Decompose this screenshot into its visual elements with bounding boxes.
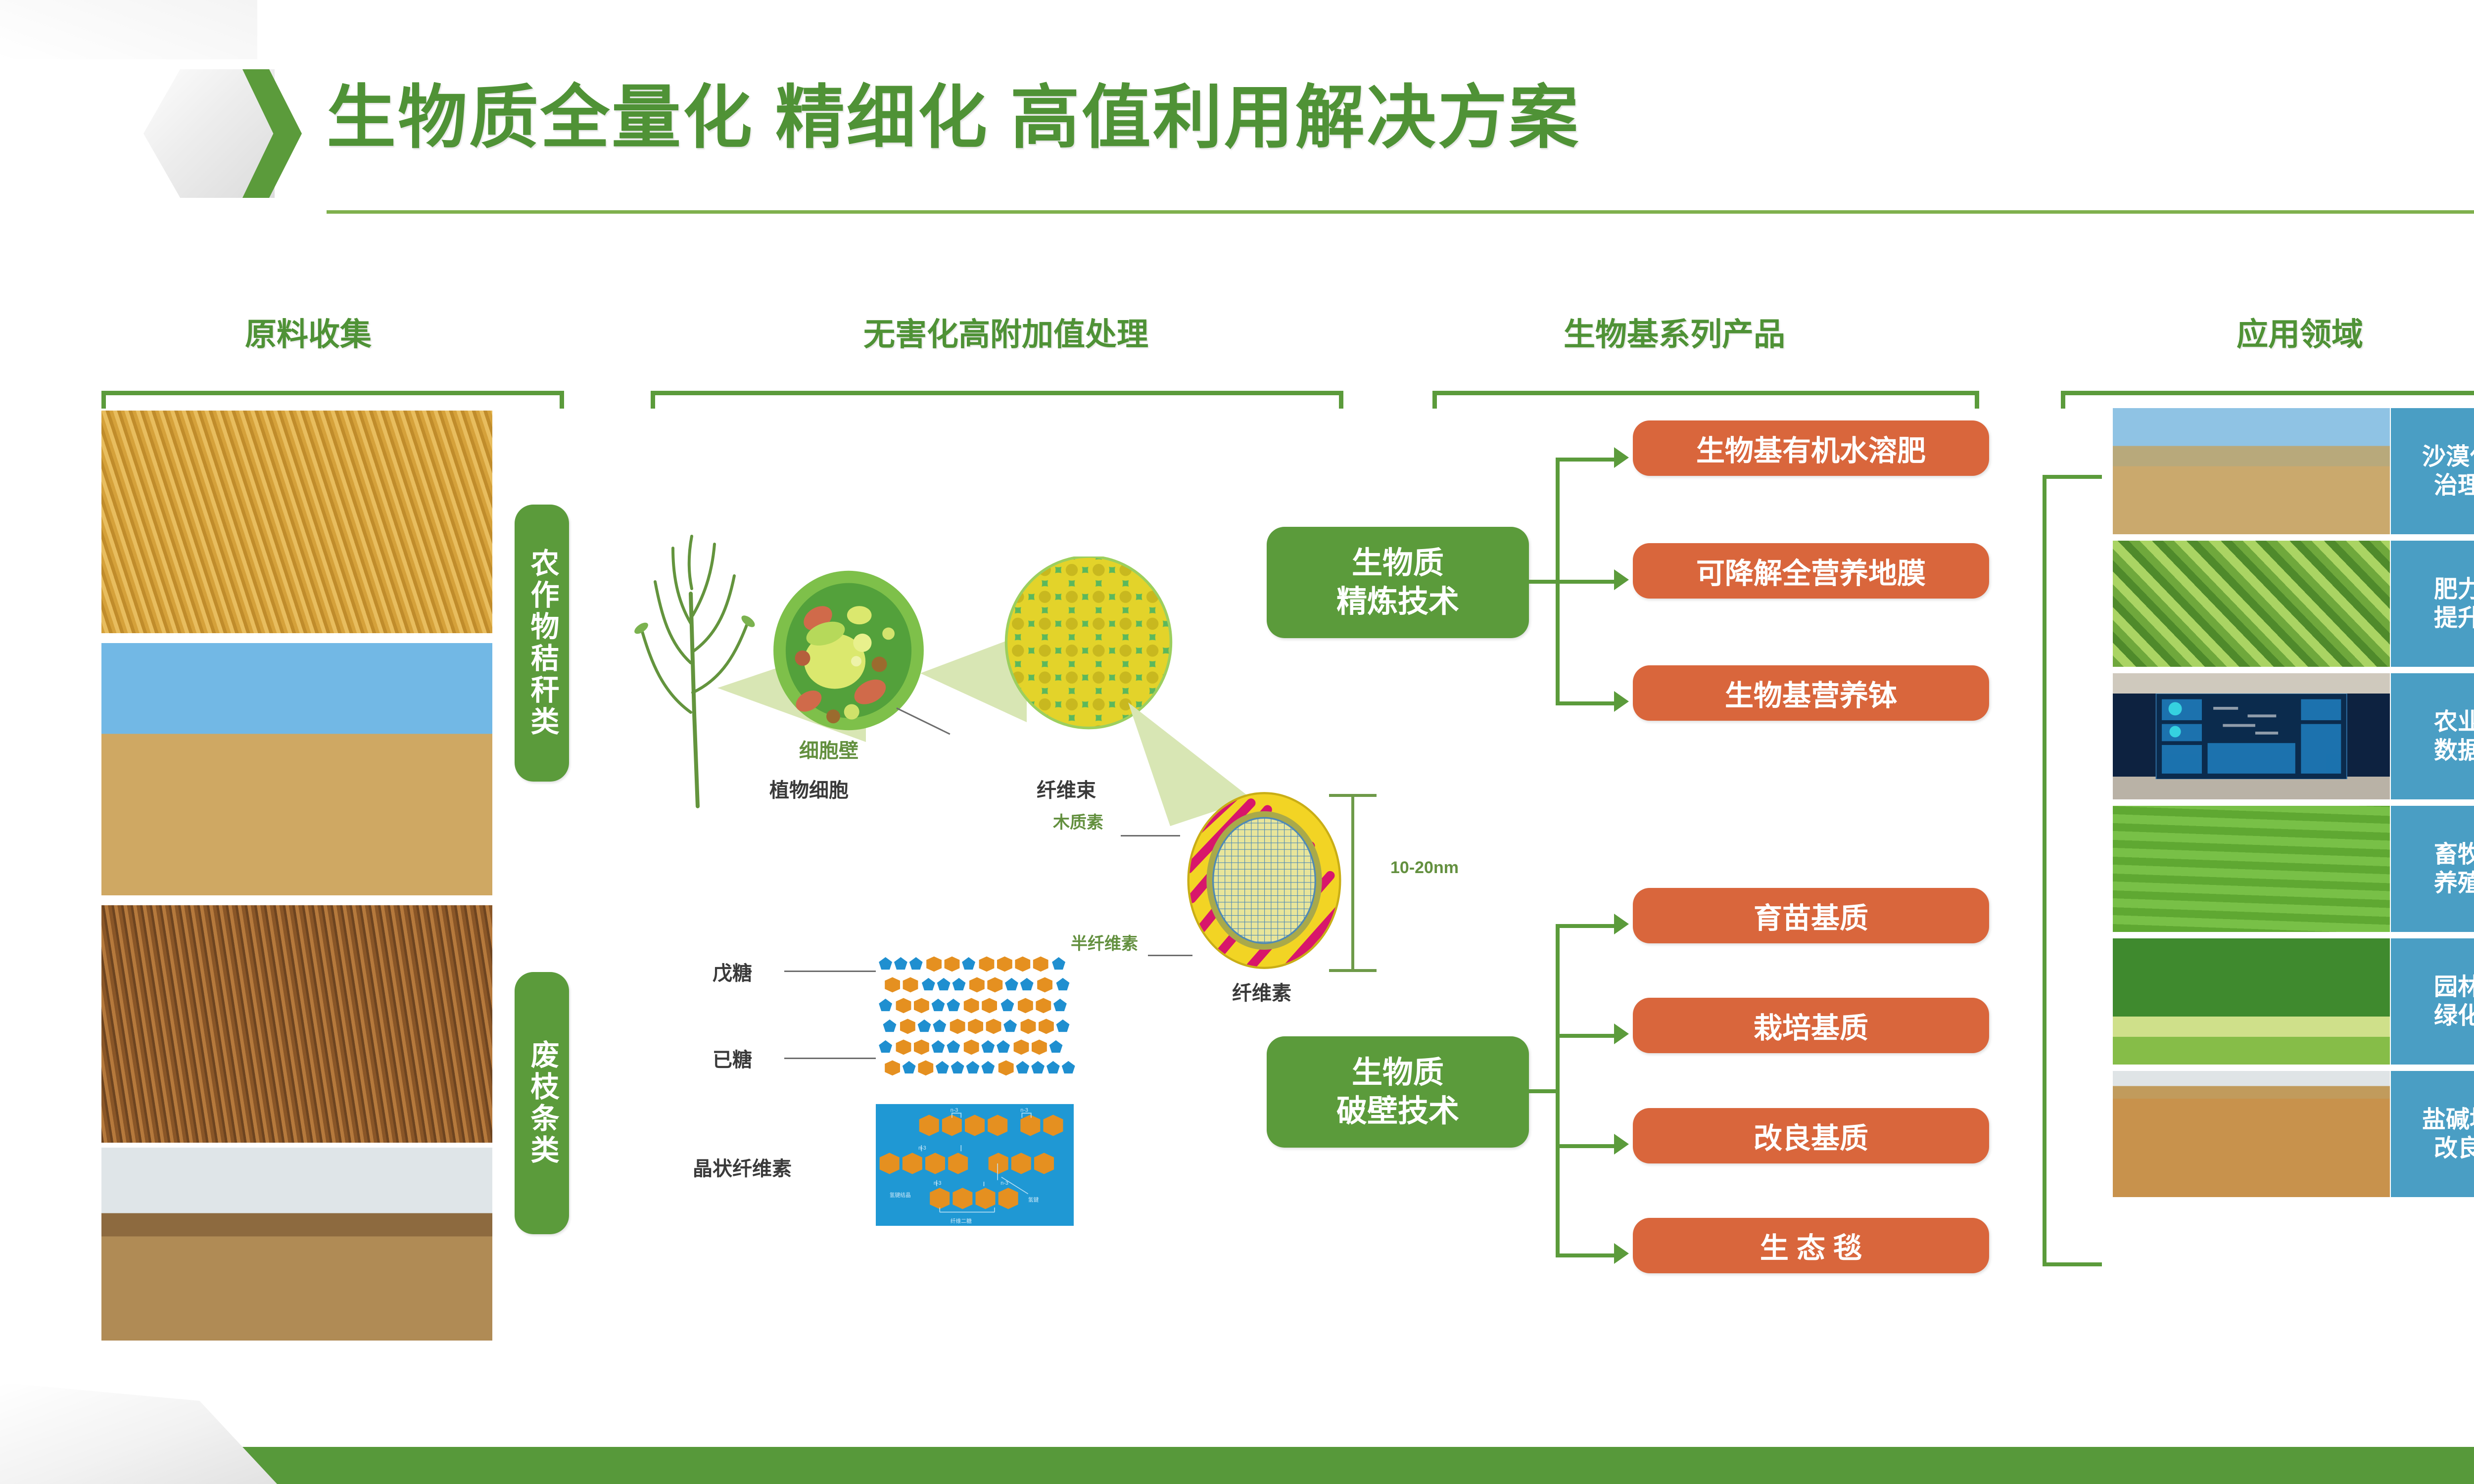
bracket-applications — [2061, 391, 2474, 409]
svg-text:纤维二糖: 纤维二糖 — [951, 1218, 972, 1224]
applications-bracket-spine — [2043, 475, 2046, 1266]
feedstock-photo-straw-bale — [101, 643, 492, 895]
product-label-1: 生物基有机水溶肥 — [1696, 427, 1926, 469]
technology-label-refining: 生物质 精炼技术 — [1336, 544, 1459, 621]
header-corner-wedge — [0, 0, 257, 59]
applications-bracket-top — [2043, 475, 2102, 479]
product-label-4: 育苗基质 — [1754, 895, 1868, 936]
technology-pill-refining[interactable]: 生物质 精炼技术 — [1267, 527, 1529, 638]
page-header: 生物质全量化 精细化 高值利用解决方案 — [0, 0, 2474, 232]
application-photo-desert — [2113, 408, 2390, 534]
application-photo-landscape — [2113, 938, 2390, 1065]
hexose-leader-line — [784, 1058, 876, 1059]
column-header-process: 无害化高附加值处理 — [863, 309, 1148, 355]
label-lignin: 木质素 — [1053, 809, 1103, 833]
fiber-bundle-icon — [1004, 556, 1173, 730]
sugar-chain-icon — [876, 952, 1084, 1078]
label-crystalline-cellulose: 晶状纤维素 — [693, 1153, 792, 1181]
product-pill-7[interactable]: 生 态 毯 — [1633, 1218, 1989, 1273]
product-label-2: 可降解全营养地膜 — [1696, 550, 1926, 592]
application-photo-livestock — [2113, 806, 2390, 932]
connector-wallbreak-stem — [1529, 1089, 1559, 1093]
bracket-process — [651, 391, 1343, 409]
application-label-agridata[interactable]: 农业 数据 — [2391, 673, 2474, 799]
pentose-leader-line — [784, 971, 876, 972]
title-underline-rule — [327, 210, 2474, 214]
svg-text:氢键结晶: 氢键结晶 — [890, 1192, 911, 1199]
application-label-text-6: 盐碱地 改良 — [2422, 1106, 2474, 1162]
connector-refining-b1 — [1556, 458, 1615, 462]
connector-wallbreak-b2 — [1556, 1034, 1615, 1038]
connector-wallbreak-b4 — [1556, 1253, 1615, 1257]
application-label-text-2: 肥力 提升 — [2434, 575, 2474, 632]
arrowhead-product-7 — [1614, 1243, 1629, 1264]
footer-bar — [0, 1447, 2474, 1484]
application-label-text-4: 畜牧 养殖 — [2434, 840, 2474, 897]
feedstock-group-label-waste-branches: 废枝条类 — [515, 972, 569, 1234]
label-plant-cell: 植物细胞 — [769, 774, 849, 803]
application-label-desert[interactable]: 沙漠化 治理 — [2391, 408, 2474, 534]
application-label-saline[interactable]: 盐碱地 改良 — [2391, 1071, 2474, 1197]
scale-dimension-icon — [1326, 787, 1385, 979]
technology-pill-wallbreaking[interactable]: 生物质 破壁技术 — [1267, 1036, 1529, 1148]
fiber-cross-section-icon — [1185, 789, 1343, 972]
svg-text:n-3: n-3 — [1020, 1107, 1028, 1113]
product-pill-1[interactable]: 生物基有机水溶肥 — [1633, 420, 1989, 476]
feedstock-photo-branches — [101, 905, 492, 1143]
product-label-3: 生物基营养钵 — [1725, 672, 1897, 714]
crystalline-cellulose-panel-icon: n-3n-3 n-3n-3n-3 氢键结晶氢键纤维二糖 — [876, 1103, 1074, 1227]
hemicellulose-leader-line — [1148, 955, 1192, 956]
connector-refining-b2 — [1556, 580, 1615, 584]
arrowhead-product-4 — [1614, 914, 1629, 934]
column-header-products: 生物基系列产品 — [1564, 309, 1785, 355]
product-label-5: 栽培基质 — [1754, 1005, 1868, 1046]
grass-plant-icon — [633, 534, 762, 811]
application-label-text-3: 农业 数据 — [2434, 708, 2474, 765]
column-header-collect: 原料收集 — [245, 309, 372, 355]
svg-text:n-3: n-3 — [934, 1180, 942, 1186]
connector-wallbreak-spine — [1556, 924, 1560, 1255]
arrowhead-product-3 — [1614, 691, 1629, 712]
bracket-collect — [101, 391, 564, 409]
application-label-fertility[interactable]: 肥力 提升 — [2391, 541, 2474, 667]
technology-label-wallbreaking: 生物质 破壁技术 — [1336, 1054, 1459, 1130]
application-label-text-5: 园林 绿化 — [2434, 973, 2474, 1030]
feedstock-group-label-crop-straw: 农作物秸秆类 — [515, 505, 569, 782]
connector-wallbreak-b3 — [1556, 1144, 1615, 1148]
application-label-landscape[interactable]: 园林 绿化 — [2391, 938, 2474, 1065]
footer-corner-wedge — [0, 1383, 277, 1484]
product-pill-5[interactable]: 栽培基质 — [1633, 998, 1989, 1053]
applications-bracket-bottom — [2043, 1262, 2102, 1266]
svg-text:n-3: n-3 — [951, 1107, 958, 1113]
application-label-livestock[interactable]: 畜牧 养殖 — [2391, 806, 2474, 932]
product-pill-6[interactable]: 改良基质 — [1633, 1108, 1989, 1163]
label-pentose: 戊糖 — [713, 957, 752, 986]
feedstock-photo-corn-stover — [101, 411, 492, 633]
product-pill-3[interactable]: 生物基营养钵 — [1633, 665, 1989, 721]
svg-text:n-3: n-3 — [1000, 1180, 1008, 1186]
lignin-leader-line — [1121, 835, 1180, 836]
application-photo-fertility — [2113, 541, 2390, 667]
column-header-applications: 应用领域 — [2236, 309, 2363, 355]
label-hexose: 已糖 — [713, 1044, 752, 1072]
label-fiber-bundle: 纤维束 — [1037, 774, 1096, 803]
page-title: 生物质全量化 精细化 高值利用解决方案 — [327, 83, 1580, 152]
bracket-products — [1432, 391, 1979, 409]
label-cellulose: 纤维素 — [1232, 977, 1291, 1006]
label-cell-wall: 细胞壁 — [799, 735, 858, 763]
product-label-7: 生 态 毯 — [1760, 1225, 1862, 1266]
application-label-text-1: 沙漠化 治理 — [2422, 443, 2474, 500]
connector-wallbreak-b1 — [1556, 924, 1615, 928]
plant-cell-icon — [772, 569, 925, 732]
dashboard-screen-icon — [2135, 694, 2368, 779]
label-hemicellulose: 半纤维素 — [1071, 930, 1138, 954]
connector-refining-b3 — [1556, 701, 1615, 705]
application-photo-agridata — [2113, 673, 2390, 799]
svg-text:n-3: n-3 — [918, 1145, 926, 1151]
arrowhead-product-5 — [1614, 1023, 1629, 1044]
product-pill-2[interactable]: 可降解全营养地膜 — [1633, 543, 1989, 599]
connector-refining-stem — [1529, 580, 1559, 584]
arrowhead-product-6 — [1614, 1134, 1629, 1155]
product-label-6: 改良基质 — [1754, 1115, 1868, 1157]
arrowhead-product-1 — [1614, 447, 1629, 468]
arrowhead-product-2 — [1614, 569, 1629, 590]
feedstock-photo-orchard-pruning — [101, 1148, 492, 1341]
application-photo-saline — [2113, 1071, 2390, 1197]
product-pill-4[interactable]: 育苗基质 — [1633, 888, 1989, 943]
label-scale-10-20nm: 10-20nm — [1390, 858, 1459, 878]
svg-text:氢键: 氢键 — [1028, 1197, 1039, 1203]
